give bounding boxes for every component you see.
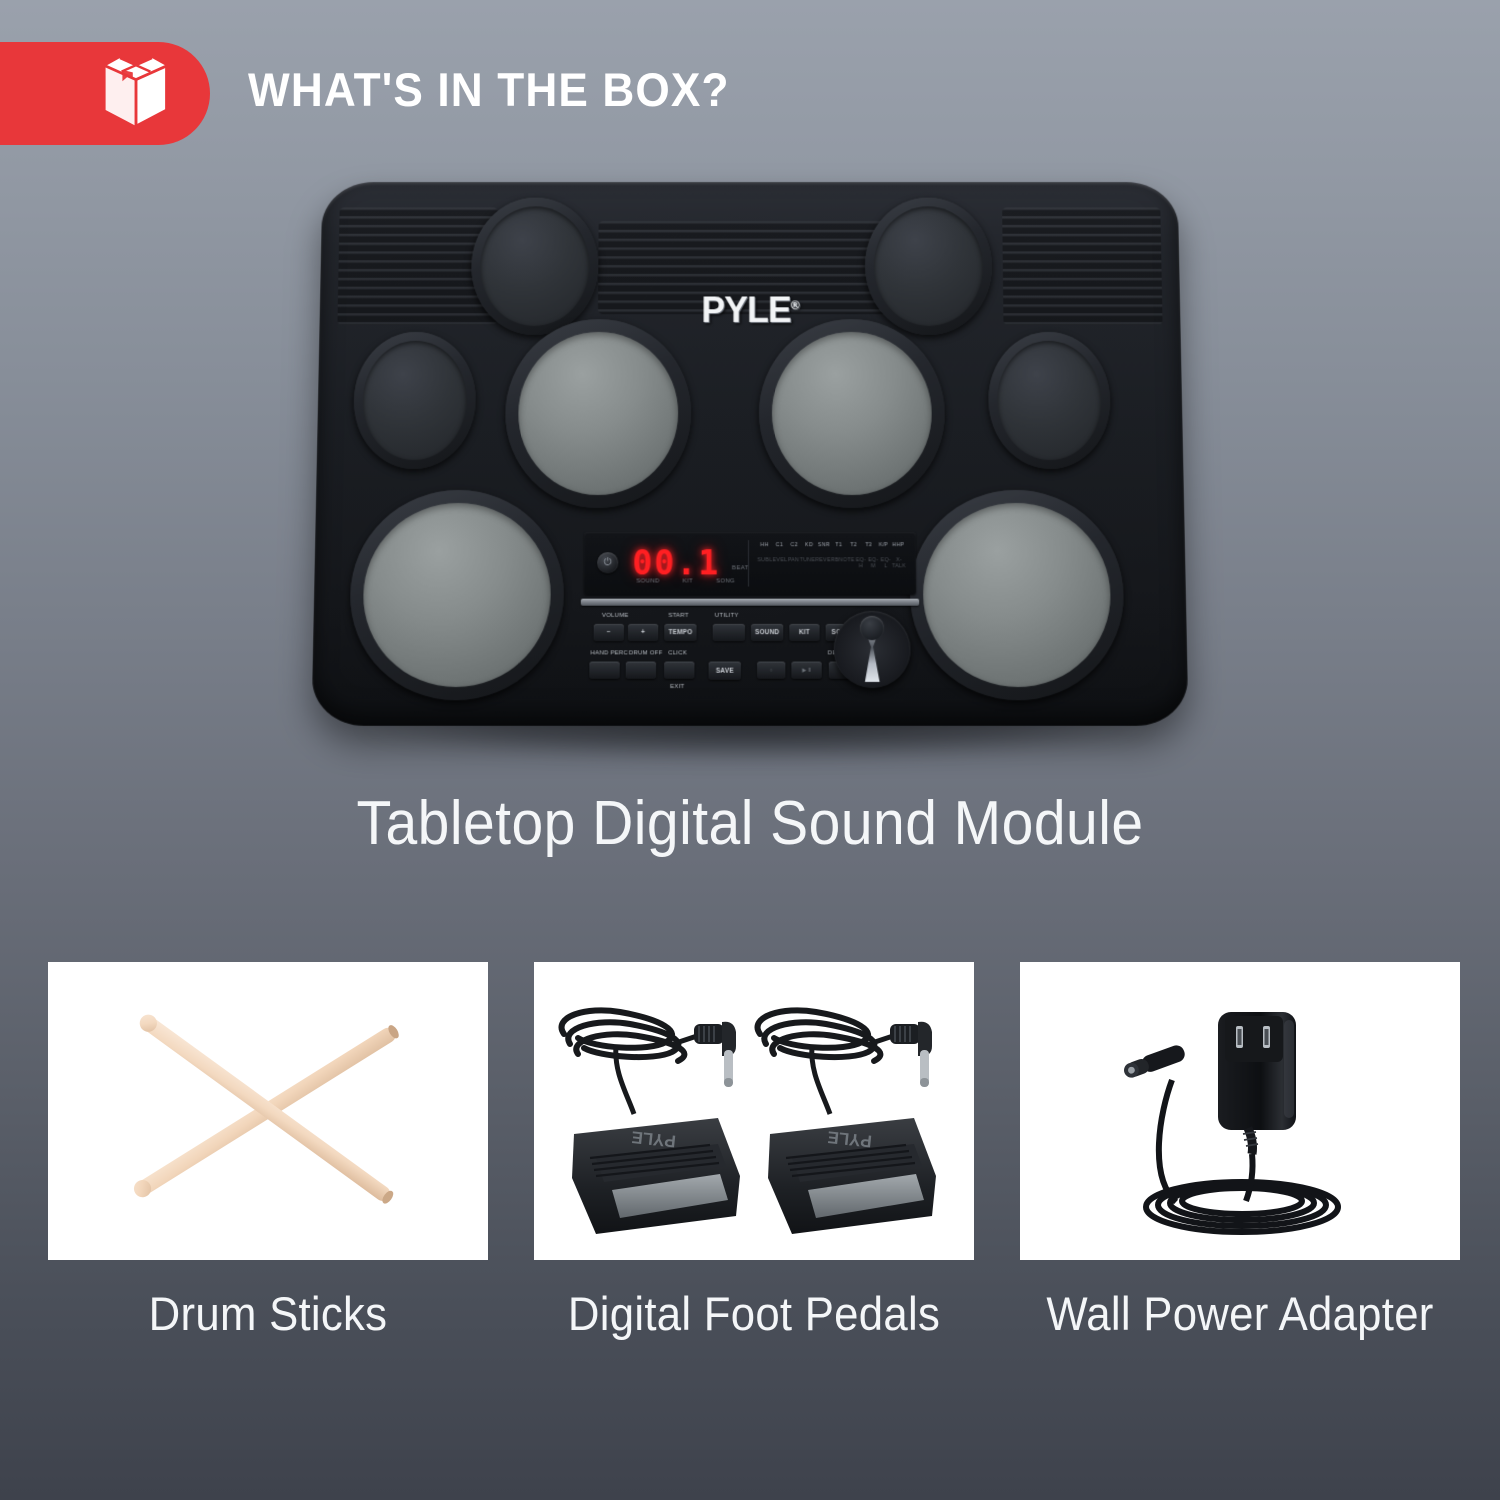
param-t2: T2 — [846, 542, 861, 548]
pad-surface — [922, 503, 1112, 687]
exit-label: EXIT — [670, 684, 684, 690]
utility-button[interactable] — [713, 624, 745, 641]
power-button[interactable]: ⏻ — [597, 552, 618, 573]
side-pad-right[interactable] — [988, 332, 1112, 469]
control-panel: ⏻ 00.1 BEAT SOUND KIT SONG HH C1 C2 KD S… — [583, 532, 917, 694]
param-pan: PAN — [787, 557, 799, 569]
tom-pad-center-right[interactable] — [759, 319, 946, 508]
param-note: NOTE — [839, 557, 855, 569]
param-sub: SUB — [757, 557, 769, 569]
param-hhp: HHP — [891, 542, 906, 548]
power-icon: ⏻ — [604, 558, 612, 568]
panel-trim-bar — [581, 599, 919, 606]
save-button[interactable]: SAVE — [709, 662, 741, 680]
parameter-grid: HH C1 C2 KD SNR T1 T2 T3 K/P HHP SUB LEV… — [757, 542, 906, 578]
param-eqh: EQ-H — [855, 557, 867, 569]
box-icon — [96, 52, 176, 136]
param-eqm: EQ-M — [867, 557, 879, 569]
whats-in-the-box-badge — [0, 42, 210, 145]
display-divider — [748, 540, 749, 586]
tempo-button[interactable]: TEMPO — [664, 624, 696, 641]
snare-pad-right[interactable] — [909, 490, 1125, 700]
param-hh: HH — [757, 542, 772, 548]
registered-mark: ® — [791, 298, 799, 312]
param-level: LEVEL — [769, 557, 787, 569]
param-kd: KD — [802, 542, 817, 548]
mode-label-kit: KIT — [683, 578, 693, 584]
param-t1: T1 — [831, 542, 846, 548]
param-tune: TUNE — [800, 557, 816, 569]
param-eql: EQ-L — [879, 557, 891, 569]
param-snr: SNR — [816, 542, 831, 548]
click-button[interactable] — [664, 662, 694, 679]
hand-perc-label: HAND PERC — [590, 650, 628, 656]
foot-pedals-caption: Digital Foot Pedals — [549, 1286, 958, 1341]
drumsticks-icon — [48, 962, 488, 1260]
volume-up-button[interactable]: + — [628, 624, 658, 641]
display-strip: ⏻ 00.1 BEAT SOUND KIT SONG HH C1 C2 KD S… — [584, 532, 916, 595]
pad-surface — [874, 206, 984, 326]
foot-pedals-icon: PYLE — [534, 962, 974, 1260]
display-mode-labels: SOUND KIT SONG — [636, 578, 735, 584]
hand-perc-button[interactable] — [589, 662, 619, 679]
play-pause-button[interactable]: ▶ ‖ — [791, 662, 821, 679]
pyle-logo: PYLE® — [701, 290, 798, 331]
tom-pad-center-left[interactable] — [504, 319, 691, 508]
cymbal-pad-left[interactable] — [471, 198, 599, 335]
drum-off-label: DRUM OFF — [629, 650, 663, 656]
side-pad-left[interactable] — [353, 332, 477, 469]
product-caption: Tabletop Digital Sound Module — [60, 788, 1440, 859]
item-foot-pedals: PYLE — [534, 962, 974, 1341]
param-kp: K/P — [876, 542, 891, 548]
mode-label-sound: SOUND — [636, 578, 659, 584]
record-button[interactable]: ○ — [757, 662, 785, 679]
pad-surface — [518, 332, 679, 495]
jog-wheel-cap — [860, 616, 884, 640]
drum-sticks-caption: Drum Sticks — [63, 1286, 472, 1341]
vent-ribs-right — [1002, 207, 1162, 325]
pad-surface — [772, 332, 932, 495]
pad-surface — [997, 341, 1102, 460]
parameter-row-instruments: HH C1 C2 KD SNR T1 T2 T3 K/P HHP — [757, 542, 906, 548]
start-label: START — [668, 613, 688, 619]
power-adapter-caption: Wall Power Adapter — [1035, 1286, 1444, 1341]
power-adapter-card — [1020, 962, 1460, 1260]
pyle-logo-text: PYLE — [701, 290, 791, 330]
led-display-value: 00.1 — [632, 543, 720, 582]
item-power-adapter: Wall Power Adapter — [1020, 962, 1460, 1341]
kit-button[interactable]: KIT — [789, 624, 819, 641]
param-t3: T3 — [861, 542, 876, 548]
included-items-row: Drum Sticks — [48, 962, 1460, 1341]
param-reverb: REVERB — [815, 557, 839, 569]
page-title: WHAT'S IN THE BOX? — [248, 62, 730, 117]
click-label: CLICK — [668, 650, 687, 656]
cymbal-pad-right[interactable] — [865, 198, 993, 335]
volume-down-button[interactable]: − — [594, 624, 624, 641]
jog-wheel[interactable] — [834, 611, 911, 688]
param-c2: C2 — [787, 542, 802, 548]
beat-label: BEAT — [732, 565, 749, 571]
snare-pad-left[interactable] — [348, 490, 564, 700]
drum-sticks-card — [48, 962, 488, 1260]
power-adapter-icon — [1020, 962, 1460, 1260]
param-c1: C1 — [772, 542, 787, 548]
foot-pedals-card: PYLE — [534, 962, 974, 1260]
param-xtalk: X-TALK — [892, 557, 906, 569]
volume-label: VOLUME — [602, 613, 629, 619]
utility-label: UTILITY — [715, 613, 739, 619]
drum-module-illustration: PYLE® ⏻ — [300, 170, 1200, 780]
pad-surface — [480, 206, 590, 326]
item-drum-sticks: Drum Sticks — [48, 962, 488, 1341]
drum-off-button[interactable] — [626, 662, 656, 679]
tabletop-drum-module: PYLE® ⏻ — [311, 182, 1188, 726]
mode-label-song: SONG — [716, 578, 735, 584]
sound-button[interactable]: SOUND — [751, 624, 783, 641]
parameter-row-settings: SUB LEVEL PAN TUNE REVERB NOTE EQ-H EQ-M… — [757, 557, 906, 569]
